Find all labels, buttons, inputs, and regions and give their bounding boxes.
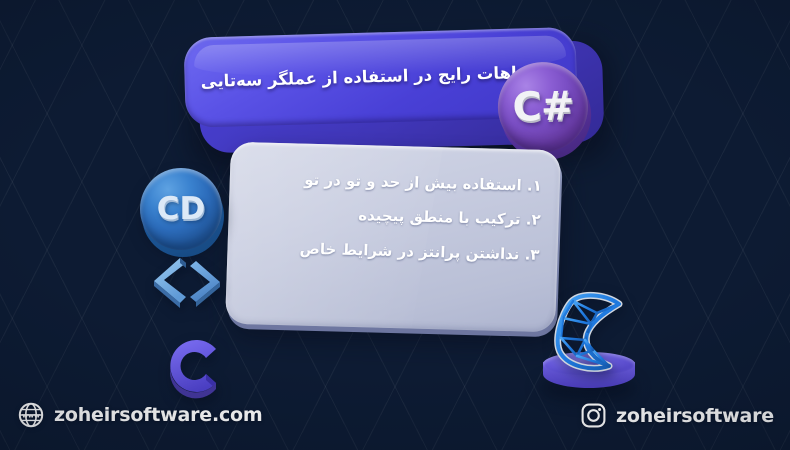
sql-server-mark — [547, 288, 639, 376]
list-item: ۱. استفاده بیش از حد و تو در تو — [248, 168, 543, 196]
csharp-badge: C# — [497, 61, 596, 160]
mistake-list: ۱. استفاده بیش از حد و تو در تو ۲. ترکیب… — [245, 168, 542, 278]
globe-www-icon: www — [18, 402, 44, 428]
letter-c-icon — [158, 330, 230, 402]
instagram-handle: zoheirsoftware — [616, 405, 774, 427]
cd-badge-icon: CD — [140, 168, 226, 254]
code-brackets-icon — [150, 255, 224, 311]
website-footer[interactable]: www zoheirsoftware.com — [18, 402, 262, 428]
card-face: ۱. استفاده بیش از حد و تو در تو ۲. ترکیب… — [225, 142, 561, 333]
website-url: zoheirsoftware.com — [54, 404, 262, 426]
sql-server-logo — [525, 288, 655, 406]
instagram-icon — [581, 403, 606, 428]
cd-label: CD — [157, 191, 205, 227]
poster-canvas: اشتباهات رایج در استفاده از عملگر سه‌تای… — [0, 0, 790, 450]
svg-text:www: www — [22, 412, 40, 420]
cd-badge-top: CD — [140, 168, 222, 250]
instagram-footer[interactable]: zoheirsoftware — [581, 403, 774, 428]
list-item: ۲. ترکیب با منطق پیچیده — [246, 202, 541, 230]
csharp-label: C# — [512, 83, 574, 131]
content-card: ۱. استفاده بیش از حد و تو در تو ۲. ترکیب… — [225, 142, 561, 333]
list-item: ۳. نداشتن پرانتز در شرایط خاص — [245, 237, 540, 265]
